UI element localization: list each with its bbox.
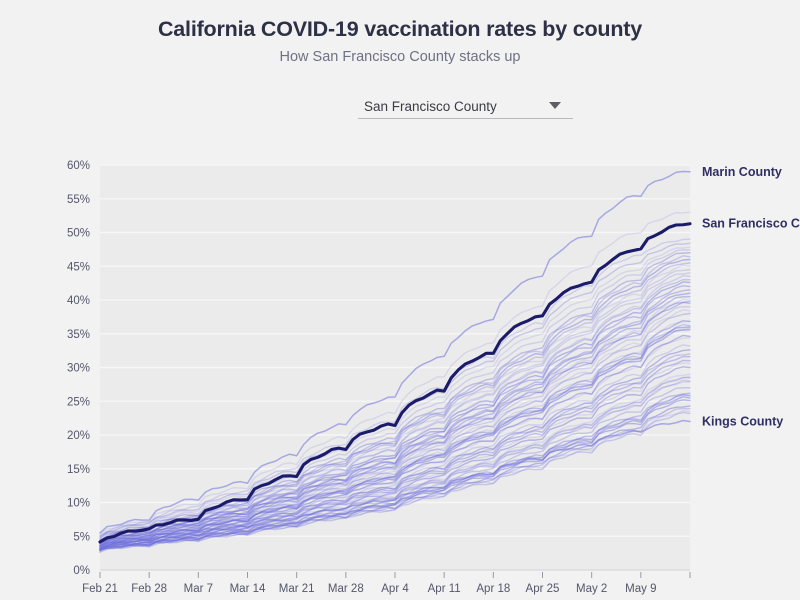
county-select-value: San Francisco County (364, 99, 549, 114)
chevron-down-icon (549, 102, 561, 109)
x-axis-tick-label: Apr 25 (526, 583, 560, 595)
y-axis-tick-label: 50% (67, 228, 90, 240)
x-axis-tick-label: Mar 21 (279, 583, 315, 595)
x-axis-tick-label: Apr 11 (428, 583, 461, 595)
chart-plot-region: 0%5%10%15%20%25%30%35%40%45%50%55%60%Feb… (0, 150, 800, 600)
y-axis-tick-label: 45% (67, 261, 90, 273)
y-axis-tick-label: 35% (67, 329, 90, 341)
x-axis-tick-label: Apr 18 (476, 583, 510, 595)
y-axis-tick-label: 0% (73, 565, 90, 577)
x-axis-tick-label: May 9 (625, 583, 656, 595)
y-axis-tick-label: 25% (67, 396, 90, 408)
y-axis-tick-label: 5% (73, 531, 90, 543)
x-axis-tick-label: Feb 21 (82, 583, 118, 595)
x-axis-tick-label: Mar 14 (230, 583, 266, 595)
y-axis-tick-label: 60% (67, 160, 90, 172)
x-axis-tick-label: Apr 4 (381, 583, 409, 595)
y-axis-tick-label: 30% (67, 363, 90, 375)
y-axis-tick-label: 20% (67, 430, 90, 442)
page-title: California COVID-19 vaccination rates by… (0, 0, 800, 42)
y-axis-tick-label: 55% (67, 194, 90, 206)
line-chart-svg: 0%5%10%15%20%25%30%35%40%45%50%55%60%Feb… (0, 150, 800, 600)
x-axis-tick-label: May 2 (576, 583, 607, 595)
series-label: Marin County (702, 165, 782, 179)
page-subtitle: How San Francisco County stacks up (0, 49, 800, 65)
x-axis-tick-label: Feb 28 (131, 583, 167, 595)
series-label: Kings County (702, 415, 783, 429)
y-axis-tick-label: 40% (67, 295, 90, 307)
x-axis-tick-label: Mar 7 (184, 583, 213, 595)
county-select[interactable]: San Francisco County (358, 99, 573, 119)
x-axis-tick-label: Mar 28 (328, 583, 364, 595)
y-axis-tick-label: 10% (67, 498, 90, 510)
y-axis-tick-label: 15% (67, 464, 90, 476)
series-label: San Francisco C (702, 217, 800, 231)
